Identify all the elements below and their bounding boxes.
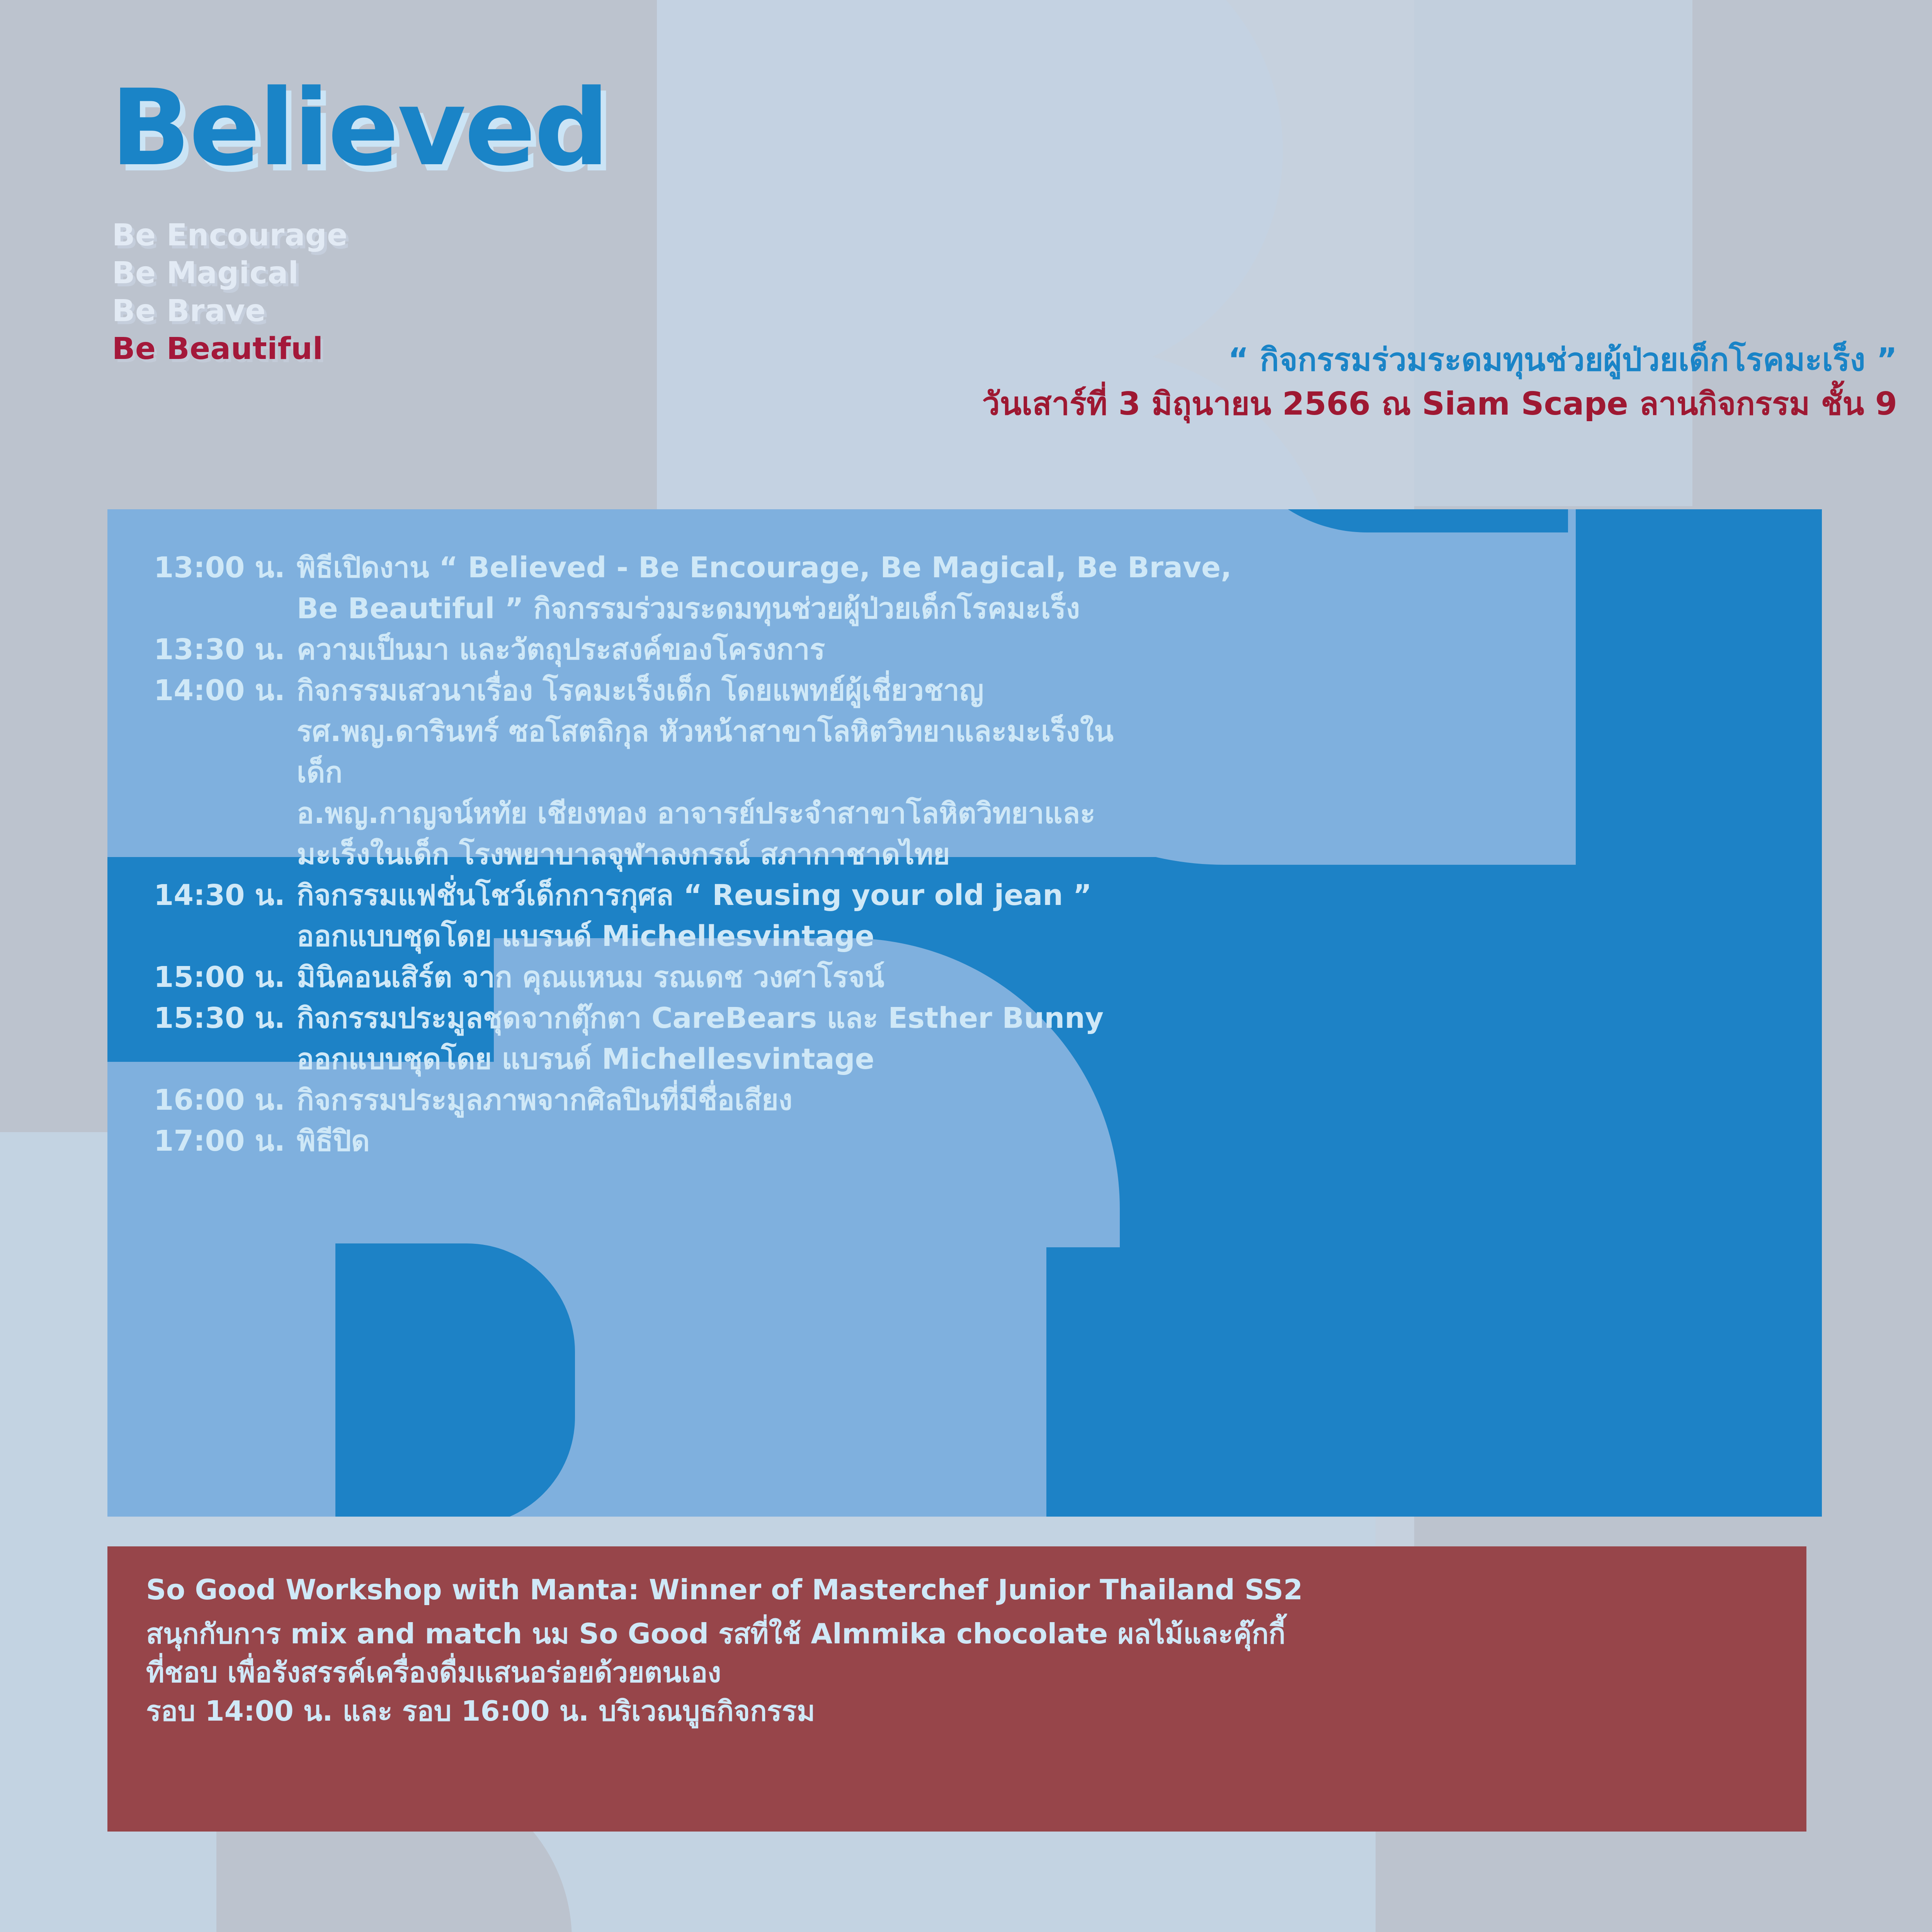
schedule-row: 14:30 น. กิจกรรมแฟชั่นโชว์เด็กการกุศล “ … bbox=[154, 875, 1092, 957]
tagline-be-brave: Be Brave bbox=[112, 292, 348, 330]
schedule-description-line: ออกแบบชุดโดย แบรนด์ Michellesvintage bbox=[297, 916, 1092, 957]
tagline-list: Be Encourage Be Magical Be Brave Be Beau… bbox=[112, 216, 348, 368]
workshop-box: So Good Workshop with Manta: Winner of M… bbox=[107, 1546, 1806, 1832]
schedule-description: กิจกรรมประมูลชุดจากตุ๊กตา CareBears และ … bbox=[297, 998, 1104, 1080]
schedule-description-line: ออกแบบชุดโดย แบรนด์ Michellesvintage bbox=[297, 1039, 1104, 1080]
title-block: Believed bbox=[111, 76, 608, 181]
workshop-line: สนุกกับการ mix and match นม So Good รสที… bbox=[146, 1614, 1791, 1653]
schedule-row: 13:00 น. พิธีเปิดงาน “ Believed - Be Enc… bbox=[154, 547, 1231, 629]
schedule-time: 17:00 น. bbox=[154, 1121, 297, 1162]
schedule-description: กิจกรรมประมูลภาพจากศิลปินที่มีชื่อเสียง bbox=[297, 1080, 793, 1121]
schedule-description-line: กิจกรรมประมูลชุดจากตุ๊กตา CareBears และ … bbox=[297, 998, 1104, 1039]
schedule-time: 15:30 น. bbox=[154, 998, 297, 1039]
header-subtitle-block: “ กิจกรรมร่วมระดมทุนช่วยผู้ป่วยเด็กโรคมะ… bbox=[723, 340, 1897, 424]
schedule-row: 14:00 น. กิจกรรมเสวนาเรื่อง โรคมะเร็งเด็… bbox=[154, 670, 1114, 875]
schedule-rows: 13:00 น. พิธีเปิดงาน “ Believed - Be Enc… bbox=[107, 509, 1822, 1517]
workshop-content: So Good Workshop with Manta: Winner of M… bbox=[146, 1570, 1791, 1730]
schedule-description-line: มินิคอนเสิร์ต จาก คุณแหนม รณเดช วงศาโรจน… bbox=[297, 957, 884, 998]
tagline-be-magical: Be Magical bbox=[112, 254, 348, 292]
tagline-be-beautiful: Be Beautiful bbox=[112, 330, 348, 368]
schedule-description: กิจกรรมแฟชั่นโชว์เด็กการกุศล “ Reusing y… bbox=[297, 875, 1092, 957]
poster-header: Believed Be Encourage Be Magical Be Brav… bbox=[0, 0, 1932, 506]
schedule-description-line: Be Beautiful ” กิจกรรมร่วมระดมทุนช่วยผู้… bbox=[297, 588, 1231, 629]
schedule-time: 15:00 น. bbox=[154, 957, 297, 998]
schedule-description-line: กิจกรรมเสวนาเรื่อง โรคมะเร็งเด็ก โดยแพทย… bbox=[297, 670, 1114, 711]
schedule-row: 13:30 น. ความเป็นมา และวัตถุประสงค์ของโค… bbox=[154, 629, 825, 670]
event-date-venue-thai: วันเสาร์ที่ 3 มิถุนายน 2566 ณ Siam Scape… bbox=[723, 384, 1897, 424]
schedule-time: 13:30 น. bbox=[154, 629, 297, 670]
schedule-description-line: เด็ก bbox=[297, 752, 1114, 793]
schedule-description-line: พิธีปิด bbox=[297, 1121, 370, 1162]
schedule-description-line: มะเร็งในเด็ก โรงพยาบาลจุฬาลงกรณ์ สภากาชา… bbox=[297, 834, 1114, 875]
schedule-row: 15:00 น. มินิคอนเสิร์ต จาก คุณแหนม รณเดช… bbox=[154, 957, 884, 998]
schedule-row: 16:00 น. กิจกรรมประมูลภาพจากศิลปินที่มีช… bbox=[154, 1080, 793, 1121]
schedule-description: ความเป็นมา และวัตถุประสงค์ของโครงการ bbox=[297, 629, 825, 670]
schedule-description: พิธีปิด bbox=[297, 1121, 370, 1162]
schedule-description-line: กิจกรรมประมูลภาพจากศิลปินที่มีชื่อเสียง bbox=[297, 1080, 793, 1121]
page-title: Believed bbox=[111, 76, 608, 181]
schedule-description-line: ความเป็นมา และวัตถุประสงค์ของโครงการ bbox=[297, 629, 825, 670]
schedule-description-line: พิธีเปิดงาน “ Believed - Be Encourage, B… bbox=[297, 547, 1231, 588]
event-subtitle-thai: “ กิจกรรมร่วมระดมทุนช่วยผู้ป่วยเด็กโรคมะ… bbox=[723, 340, 1897, 380]
schedule-description-line: กิจกรรมแฟชั่นโชว์เด็กการกุศล “ Reusing y… bbox=[297, 875, 1092, 916]
schedule-time: 14:00 น. bbox=[154, 670, 297, 711]
schedule-time: 14:30 น. bbox=[154, 875, 297, 916]
tagline-be-encourage: Be Encourage bbox=[112, 216, 348, 254]
schedule-panel: 13:00 น. พิธีเปิดงาน “ Believed - Be Enc… bbox=[107, 509, 1822, 1517]
schedule-description-line: อ.พญ.กาญจน์หทัย เชียงทอง อาจารย์ประจำสาข… bbox=[297, 793, 1114, 834]
schedule-description: มินิคอนเสิร์ต จาก คุณแหนม รณเดช วงศาโรจน… bbox=[297, 957, 884, 998]
schedule-row: 15:30 น. กิจกรรมประมูลชุดจากตุ๊กตา CareB… bbox=[154, 998, 1104, 1080]
schedule-time: 16:00 น. bbox=[154, 1080, 297, 1121]
workshop-line: ที่ชอบ เพื่อรังสรรค์เครื่องดื่มแสนอร่อยด… bbox=[146, 1653, 1791, 1692]
schedule-description-line: รศ.พญ.ดารินทร์ ซอโสตถิกุล หัวหน้าสาขาโลห… bbox=[297, 711, 1114, 752]
schedule-description: กิจกรรมเสวนาเรื่อง โรคมะเร็งเด็ก โดยแพทย… bbox=[297, 670, 1114, 875]
workshop-spacer bbox=[146, 1609, 1791, 1614]
schedule-description: พิธีเปิดงาน “ Believed - Be Encourage, B… bbox=[297, 547, 1231, 629]
workshop-line: รอบ 14:00 น. และ รอบ 16:00 น. บริเวณบูธก… bbox=[146, 1692, 1791, 1730]
schedule-row: 17:00 น. พิธีปิด bbox=[154, 1121, 370, 1162]
event-poster: Believed Be Encourage Be Magical Be Brav… bbox=[0, 0, 1932, 1932]
workshop-title: So Good Workshop with Manta: Winner of M… bbox=[146, 1570, 1791, 1609]
schedule-time: 13:00 น. bbox=[154, 547, 297, 588]
